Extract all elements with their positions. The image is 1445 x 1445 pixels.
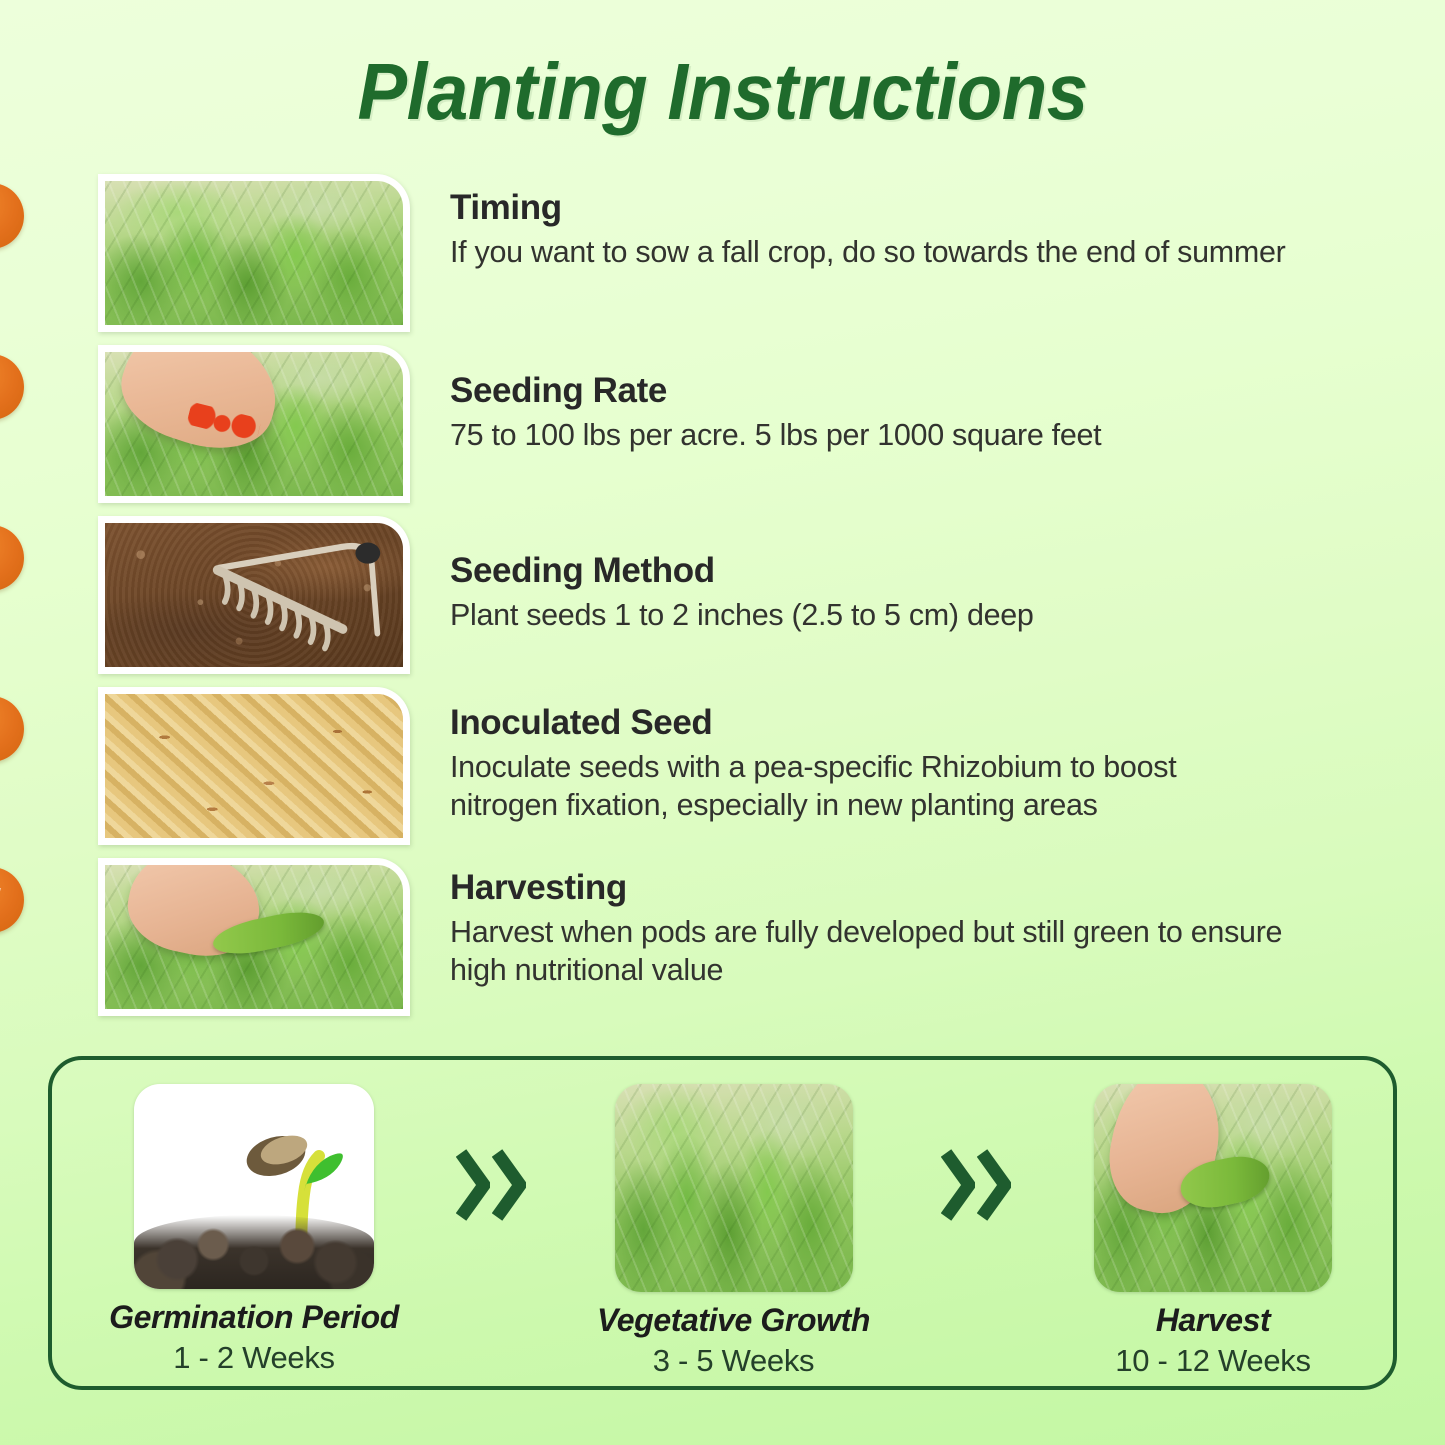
step-thumbnail-column: 3 [0, 516, 420, 674]
timeline-stage-vegetative: Vegetative Growth 3 - 5 Weeks [579, 1060, 889, 1379]
rake-shape [200, 532, 391, 659]
young-pea-plants-field-photo [105, 181, 403, 325]
step-text-column: Harvesting Harvest when pods are fully d… [420, 858, 1330, 990]
timeline-stage-label: Vegetative Growth [579, 1302, 889, 1339]
step-thumbnail-column: 4 [0, 687, 420, 845]
timeline-stage-duration: 1 - 2 Weeks [104, 1340, 404, 1376]
step-number-badge: 3 [0, 525, 24, 591]
step-number-badge: 4 [0, 696, 24, 762]
timeline-stage-duration: 3 - 5 Weeks [579, 1343, 889, 1379]
step-number-badge: 5 [0, 867, 24, 933]
rake-on-soil-photo [105, 523, 403, 667]
step-thumbnail-column: 2 [0, 345, 420, 503]
step-item: 1 Timing If you want to sow a fall crop,… [0, 174, 1445, 341]
hand-holding-pea-pods-photo [1094, 1084, 1332, 1292]
sprouting-seed-photo [134, 1084, 374, 1289]
step-title: Seeding Rate [450, 371, 1101, 411]
step-description: Inoculate seeds with a pea-specific Rhiz… [450, 748, 1290, 824]
step-photo-frame [98, 174, 410, 332]
step-number-badge: 2 [0, 354, 24, 420]
step-title: Inoculated Seed [450, 703, 1290, 743]
pea-seedlings-growing-photo [615, 1084, 853, 1292]
step-text-column: Seeding Rate 75 to 100 lbs per acre. 5 l… [420, 345, 1141, 454]
step-description: If you want to sow a fall crop, do so to… [450, 233, 1286, 271]
step-description: Plant seeds 1 to 2 inches (2.5 to 5 cm) … [450, 596, 1034, 634]
pea-seeds-closeup-photo [105, 694, 403, 838]
step-item: 5 Harvesting Harvest when pods are fully… [0, 858, 1445, 1025]
double-chevron-right-icon [889, 1060, 1064, 1310]
timeline-stage-label: Harvest [1063, 1302, 1363, 1339]
step-thumbnail-column: 5 [0, 858, 420, 1016]
double-chevron-right-icon [404, 1060, 579, 1310]
step-photo-frame [98, 516, 410, 674]
step-text-column: Inoculated Seed Inoculate seeds with a p… [420, 687, 1330, 825]
growth-timeline-panel: Germination Period 1 - 2 Weeks Vegetativ… [48, 1056, 1397, 1390]
step-title: Timing [450, 188, 1286, 228]
step-text-column: Seeding Method Plant seeds 1 to 2 inches… [420, 516, 1074, 634]
timeline-stage-label: Germination Period [104, 1299, 404, 1336]
hand-over-pea-plants-photo [105, 352, 403, 496]
step-photo-frame [98, 345, 410, 503]
step-title: Seeding Method [450, 551, 1034, 591]
timeline-stage-harvest: Harvest 10 - 12 Weeks [1063, 1060, 1363, 1379]
step-photo-frame [98, 858, 410, 1016]
timeline-stage-germination: Germination Period 1 - 2 Weeks [104, 1060, 404, 1376]
step-item: 4 Inoculated Seed Inoculate seeds with a… [0, 687, 1445, 854]
step-item: 3 [0, 516, 1445, 683]
step-text-column: Timing If you want to sow a fall crop, d… [420, 174, 1326, 271]
step-number-badge: 1 [0, 183, 24, 249]
hand-harvesting-pea-pods-photo [105, 865, 403, 1009]
step-description: 75 to 100 lbs per acre. 5 lbs per 1000 s… [450, 416, 1101, 454]
step-photo-frame [98, 687, 410, 845]
step-thumbnail-column: 1 [0, 174, 420, 332]
step-title: Harvesting [450, 868, 1290, 908]
step-item: 2 Seeding Rate 75 to 100 lbs per acre. 5… [0, 345, 1445, 512]
step-description: Harvest when pods are fully developed bu… [450, 913, 1290, 989]
planting-steps-list: 1 Timing If you want to sow a fall crop,… [0, 174, 1445, 1025]
timeline-stage-duration: 10 - 12 Weeks [1063, 1343, 1363, 1379]
page-title: Planting Instructions [357, 52, 1087, 132]
page-header: Planting Instructions [0, 0, 1445, 132]
